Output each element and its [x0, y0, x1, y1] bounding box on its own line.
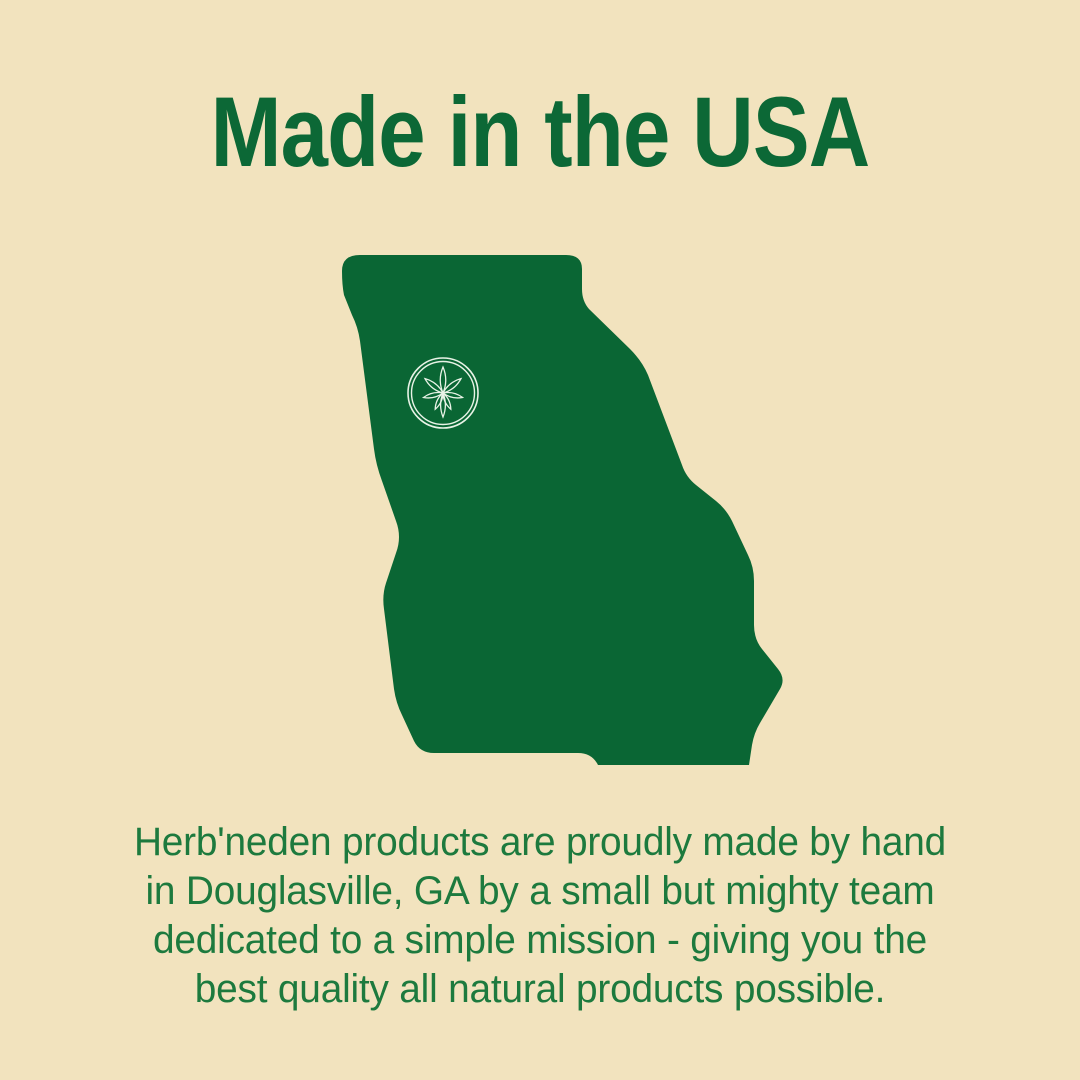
georgia-state-shape — [342, 255, 783, 765]
page-title: Made in the USA — [76, 82, 1005, 181]
body-line-3: dedicated to a simple mission - giving y… — [74, 916, 1005, 965]
made-in-usa-poster: Made in the USA — [0, 0, 1080, 1080]
georgia-state-map — [330, 245, 810, 765]
body-line-4: best quality all natural products possib… — [74, 965, 1005, 1014]
body-paragraph: Herb'neden products are proudly made by … — [74, 818, 1005, 1014]
body-line-1: Herb'neden products are proudly made by … — [74, 818, 1005, 867]
body-line-2: in Douglasville, GA by a small but might… — [74, 867, 1005, 916]
georgia-map-svg — [330, 245, 810, 765]
